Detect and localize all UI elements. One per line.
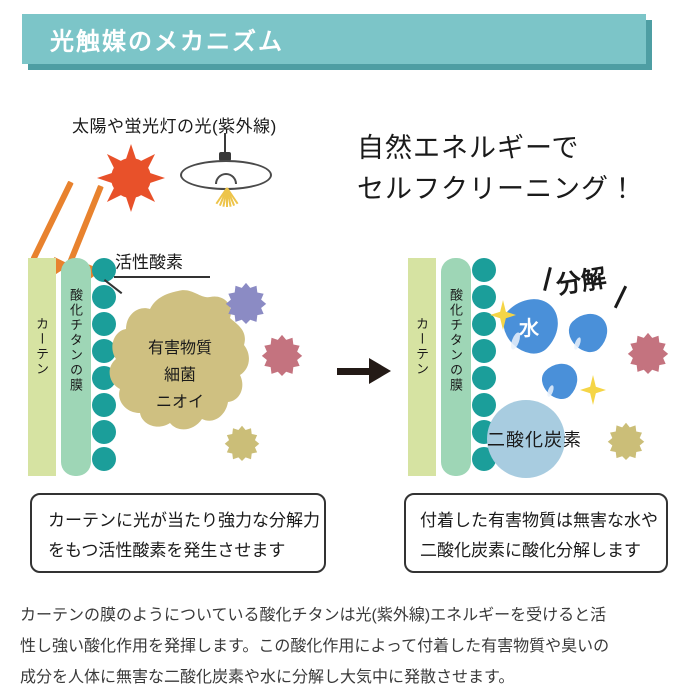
germ-rose-icon	[627, 332, 669, 374]
description-line3: 成分を人体に無害な二酸化炭素や水に分解し大気中に発散させます。	[20, 662, 688, 693]
description-line2: 性し強い酸化作用を発揮します。この酸化作用によって付着した有害物質や臭いの	[20, 631, 688, 662]
lamp-cord	[224, 133, 226, 153]
water-label: 水	[519, 312, 539, 341]
germ-purple-icon	[225, 282, 267, 324]
blob-text-line3: ニオイ	[120, 389, 240, 416]
active-oxygen-dot	[472, 393, 496, 417]
curtain-label-left: カーテン	[35, 317, 48, 377]
active-oxygen-dot	[472, 285, 496, 309]
active-oxygen-dot	[472, 258, 496, 282]
curtain-label-right: カーテン	[415, 317, 428, 377]
germ-rose-icon	[261, 334, 303, 376]
infographic-root: 光触媒のメカニズム 太陽や蛍光灯の光(紫外線)	[0, 0, 700, 700]
germ-khaki-icon	[224, 425, 260, 461]
blob-text-line1: 有害物質	[120, 335, 240, 362]
fluorescent-lamp-icon	[178, 133, 274, 213]
sparkle-icon	[580, 375, 606, 405]
decompose-tick-right	[614, 286, 627, 309]
right-caption-box: 付着した有害物質は無害な水や 二酸化炭素に酸化分解します	[404, 493, 668, 573]
germ-khaki-icon	[607, 422, 645, 460]
water-drop-large: 水	[505, 298, 567, 360]
active-oxygen-dot	[472, 366, 496, 390]
headline: 自然エネルギーで セルフクリーニング！	[357, 128, 637, 210]
description-line1: カーテンの膜のようについている酸化チタンは光(紫外線)エネルギーを受けると活	[20, 600, 688, 631]
water-drop-small	[543, 363, 583, 403]
active-oxygen-dot	[472, 339, 496, 363]
decompose-label: 分解	[553, 258, 608, 301]
title-banner: 光触媒のメカニズム	[22, 14, 646, 64]
titanium-film-label-left: 酸化チタンの膜	[69, 288, 82, 393]
left-caption-line2: をもつ活性酸素を発生させます	[48, 536, 324, 566]
titanium-film-label-right: 酸化チタンの膜	[449, 288, 462, 393]
decompose-tick-left	[543, 267, 552, 291]
active-oxygen-label: 活性酸素	[115, 248, 183, 273]
carbon-dioxide-label: 二酸化炭素	[487, 426, 582, 452]
headline-line2: セルフクリーニング！	[357, 169, 637, 210]
banner-background: 光触媒のメカニズム	[22, 14, 646, 64]
headline-line1: 自然エネルギーで	[357, 128, 637, 169]
description-paragraph: カーテンの膜のようについている酸化チタンは光(紫外線)エネルギーを受けると活 性…	[20, 600, 688, 693]
right-caption-line1: 付着した有害物質は無害な水や	[420, 506, 666, 536]
water-drop-medium	[570, 313, 614, 357]
right-caption-line2: 二酸化炭素に酸化分解します	[420, 536, 666, 566]
left-caption-line1: カーテンに光が当たり強力な分解力	[48, 506, 324, 536]
leader-line-horizontal	[114, 276, 210, 278]
left-caption-box: カーテンに光が当たり強力な分解力 をもつ活性酸素を発生させます	[30, 493, 326, 573]
right-arrow-icon	[337, 358, 393, 384]
blob-text-line2: 細菌	[120, 362, 240, 389]
active-oxygen-dot	[92, 447, 116, 471]
page-title: 光触媒のメカニズム	[50, 22, 284, 57]
